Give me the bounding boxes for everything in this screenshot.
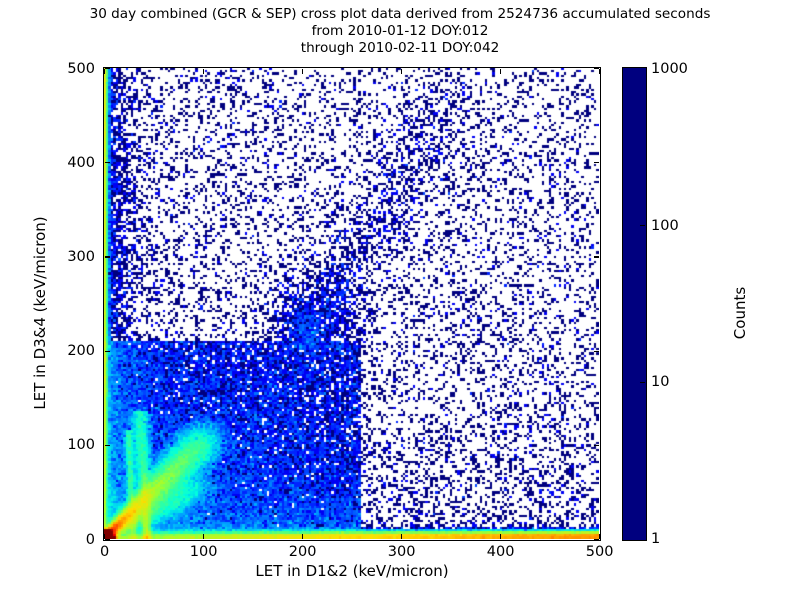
colorbar-tick [640, 382, 645, 383]
title-line-2: from 2010-01-12 DOY:012 [0, 23, 800, 40]
y-tick-left [105, 445, 110, 446]
y-tick-label: 300 [41, 249, 95, 265]
y-tick-right [594, 351, 599, 352]
y-tick-label: 400 [41, 155, 95, 171]
y-tick-left [105, 68, 110, 69]
y-tick-right [594, 256, 599, 257]
x-tick-bottom [500, 534, 501, 539]
colorbar-label: Counts [731, 233, 749, 393]
x-tick-top [104, 69, 105, 74]
x-tick-top [599, 69, 600, 74]
title-line-3: through 2010-02-11 DOY:042 [0, 40, 800, 57]
y-tick-label: 100 [41, 437, 95, 453]
y-tick-left [105, 162, 110, 163]
x-tick-top [401, 69, 402, 74]
x-tick-bottom [203, 534, 204, 539]
title-line-1: 30 day combined (GCR & SEP) cross plot d… [0, 6, 800, 23]
y-tick-left [105, 256, 110, 257]
y-tick-right [594, 539, 599, 540]
chart-title: 30 day combined (GCR & SEP) cross plot d… [0, 6, 800, 57]
x-tick-label: 300 [388, 544, 416, 560]
y-tick-left [105, 351, 110, 352]
colorbar-tick-label: 1000 [651, 61, 688, 77]
colorbar-tick [640, 225, 645, 226]
x-tick-label: 500 [586, 544, 614, 560]
colorbar-gradient [623, 68, 646, 540]
y-tick-label: 500 [41, 61, 95, 77]
y-tick-label: 0 [41, 532, 95, 548]
y-tick-right [594, 445, 599, 446]
x-tick-label: 200 [289, 544, 317, 560]
y-tick-left [105, 539, 110, 540]
x-tick-label: 0 [100, 544, 109, 560]
scatter-density-canvas [104, 68, 599, 539]
y-tick-label: 200 [41, 343, 95, 359]
x-tick-top [302, 69, 303, 74]
x-tick-bottom [401, 534, 402, 539]
x-tick-label: 400 [487, 544, 515, 560]
plot-area [103, 67, 601, 541]
x-axis-label: LET in D1&2 (keV/micron) [103, 562, 601, 580]
colorbar [622, 67, 647, 541]
x-tick-top [203, 69, 204, 74]
y-axis-label: LET in D3&4 (keV/micron) [31, 213, 49, 413]
y-tick-right [594, 68, 599, 69]
figure: 30 day combined (GCR & SEP) cross plot d… [0, 0, 800, 600]
y-tick-right [594, 162, 599, 163]
colorbar-tick-label: 1 [651, 531, 660, 547]
colorbar-tick-label: 100 [651, 218, 679, 234]
colorbar-tick-label: 10 [651, 374, 669, 390]
x-tick-bottom [302, 534, 303, 539]
x-tick-label: 100 [190, 544, 218, 560]
x-tick-top [500, 69, 501, 74]
